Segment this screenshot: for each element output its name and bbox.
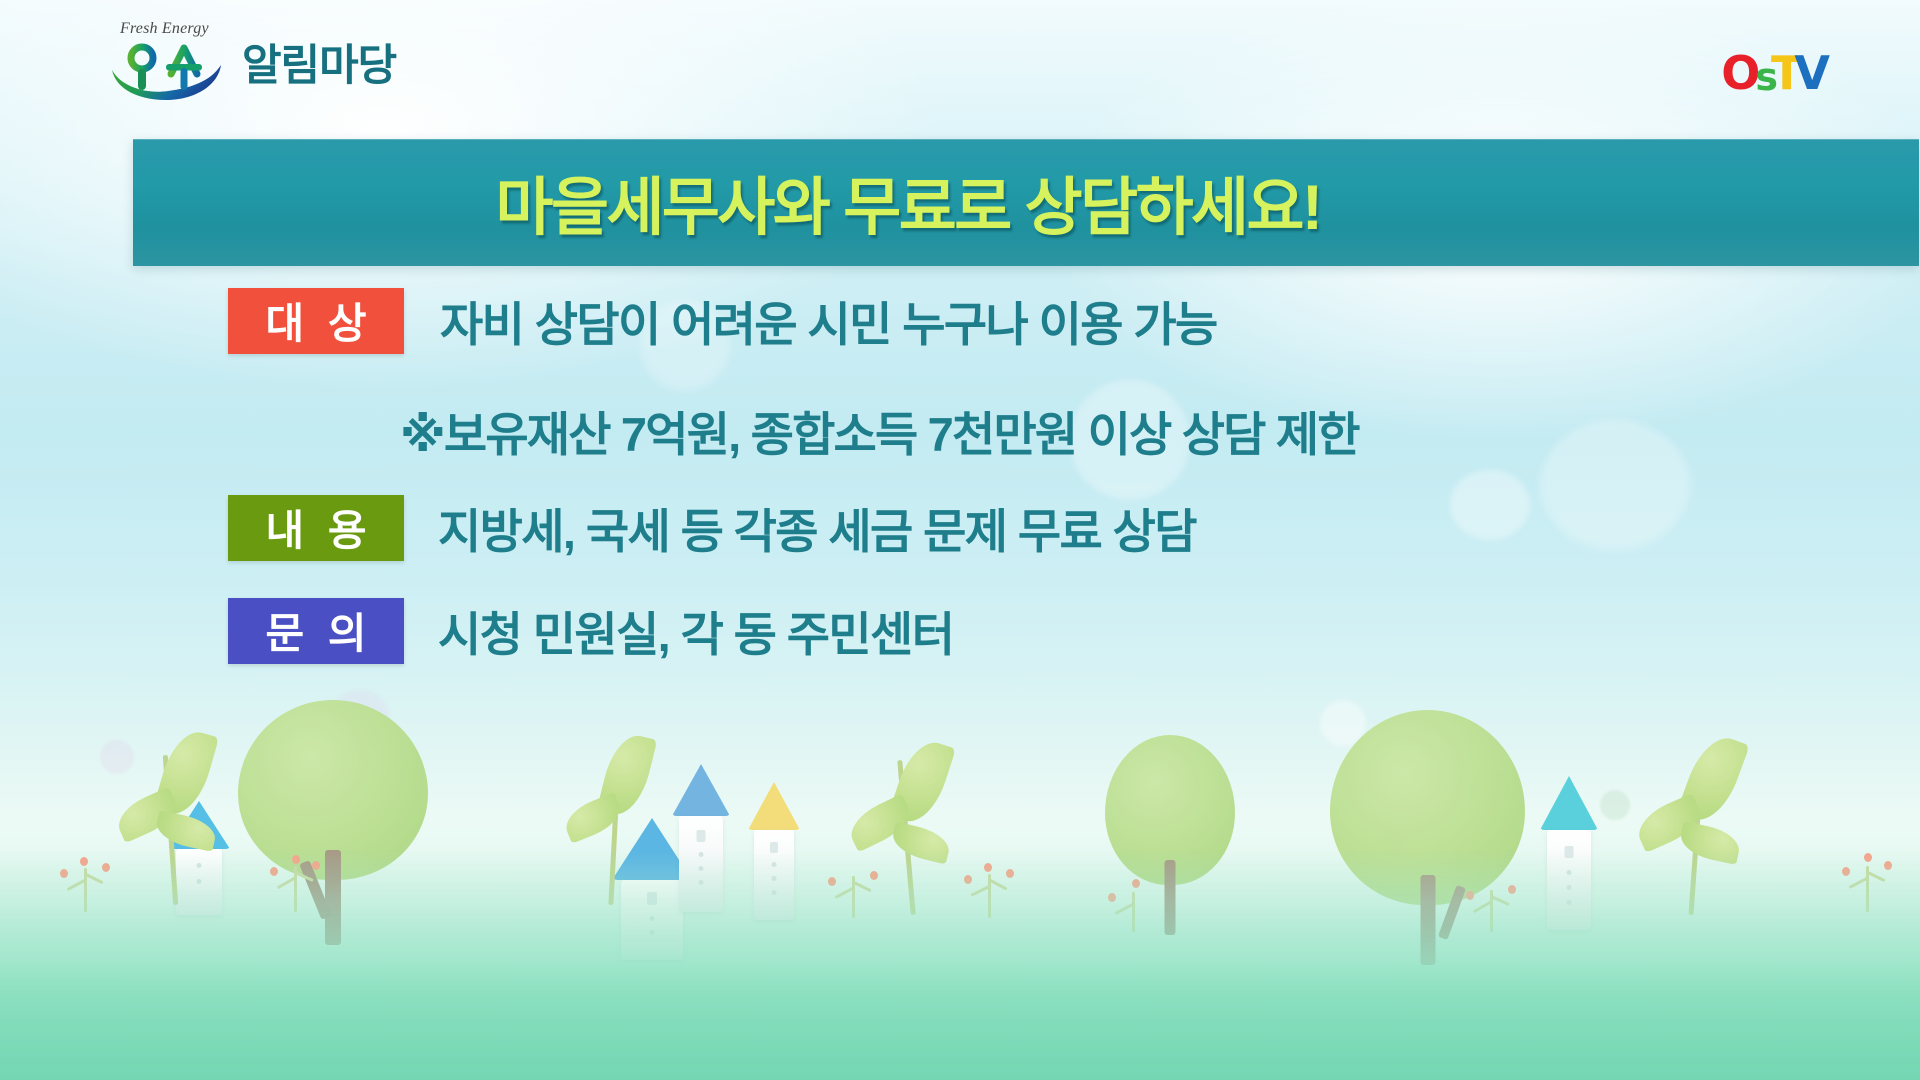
berry-branch-icon	[58, 852, 118, 912]
bokeh-decor	[1380, 830, 1406, 856]
house-icon	[748, 782, 800, 920]
tree-icon	[238, 700, 428, 910]
title-banner: 마을세무사와 무료로 상담하세요!	[133, 139, 1919, 266]
house-icon	[672, 764, 730, 912]
sprout-icon	[1628, 735, 1768, 915]
bokeh-decor	[330, 690, 390, 750]
berry-branch-icon	[1840, 852, 1900, 912]
berry-branch-icon	[1106, 872, 1166, 932]
sprout-icon	[108, 730, 228, 905]
banner-title: 마을세무사와 무료로 상담하세요!	[496, 157, 1321, 248]
poster-stage: Fresh Energy	[0, 0, 1920, 1080]
berry-branch-icon	[962, 858, 1022, 918]
village-illustration	[0, 660, 1920, 1080]
sprout-icon	[842, 740, 972, 915]
content-row-detail: 내 용 지방세, 국세 등 각종 세금 문제 무료 상담	[228, 493, 1196, 562]
ostv-letter-o: O	[1721, 50, 1758, 96]
content-row-contact: 문 의 시청 민원실, 각 동 주민센터	[228, 596, 953, 665]
tree-icon	[1105, 735, 1235, 895]
bokeh-decor	[1600, 790, 1630, 820]
page-header: Fresh Energy	[0, 0, 1920, 118]
content-row-target: 대 상 자비 상담이 어려운 시민 누구나 이용 가능	[228, 286, 1217, 355]
row-text-contact: 시청 민원실, 각 동 주민센터	[438, 596, 953, 665]
bokeh-decor	[1540, 420, 1690, 550]
row-text-target: 자비 상담이 어려운 시민 누구나 이용 가능	[440, 286, 1217, 355]
eligibility-note: ※보유재산 7억원, 종합소득 7천만원 이상 상담 제한	[400, 396, 1359, 465]
grass-band	[0, 850, 1920, 1080]
osan-city-logo-icon: Fresh Energy	[108, 24, 226, 92]
house-icon	[168, 801, 230, 915]
badge-detail: 내 용	[228, 495, 404, 561]
badge-contact: 문 의	[228, 598, 404, 664]
brand-lockup: Fresh Energy	[108, 24, 396, 92]
tree-icon	[1330, 710, 1525, 925]
row-text-detail: 지방세, 국세 등 각종 세금 문제 무료 상담	[438, 493, 1196, 562]
sprout-icon	[560, 730, 680, 905]
berry-branch-icon	[826, 858, 886, 918]
brand-title: 알림마당	[242, 45, 396, 92]
badge-target: 대 상	[228, 288, 404, 354]
bokeh-decor	[1450, 470, 1530, 540]
house-icon	[612, 818, 692, 960]
ostv-letter-v: V	[1794, 50, 1828, 96]
bokeh-decor	[1470, 770, 1510, 810]
bokeh-decor	[1320, 700, 1366, 746]
house-icon	[1540, 776, 1598, 930]
grass-band-foreground	[0, 960, 1920, 1080]
berry-branch-icon	[1464, 872, 1524, 932]
berry-branch-icon	[268, 852, 328, 912]
bokeh-decor	[100, 740, 134, 774]
ostv-logo-icon: O s T V	[1721, 50, 1828, 96]
